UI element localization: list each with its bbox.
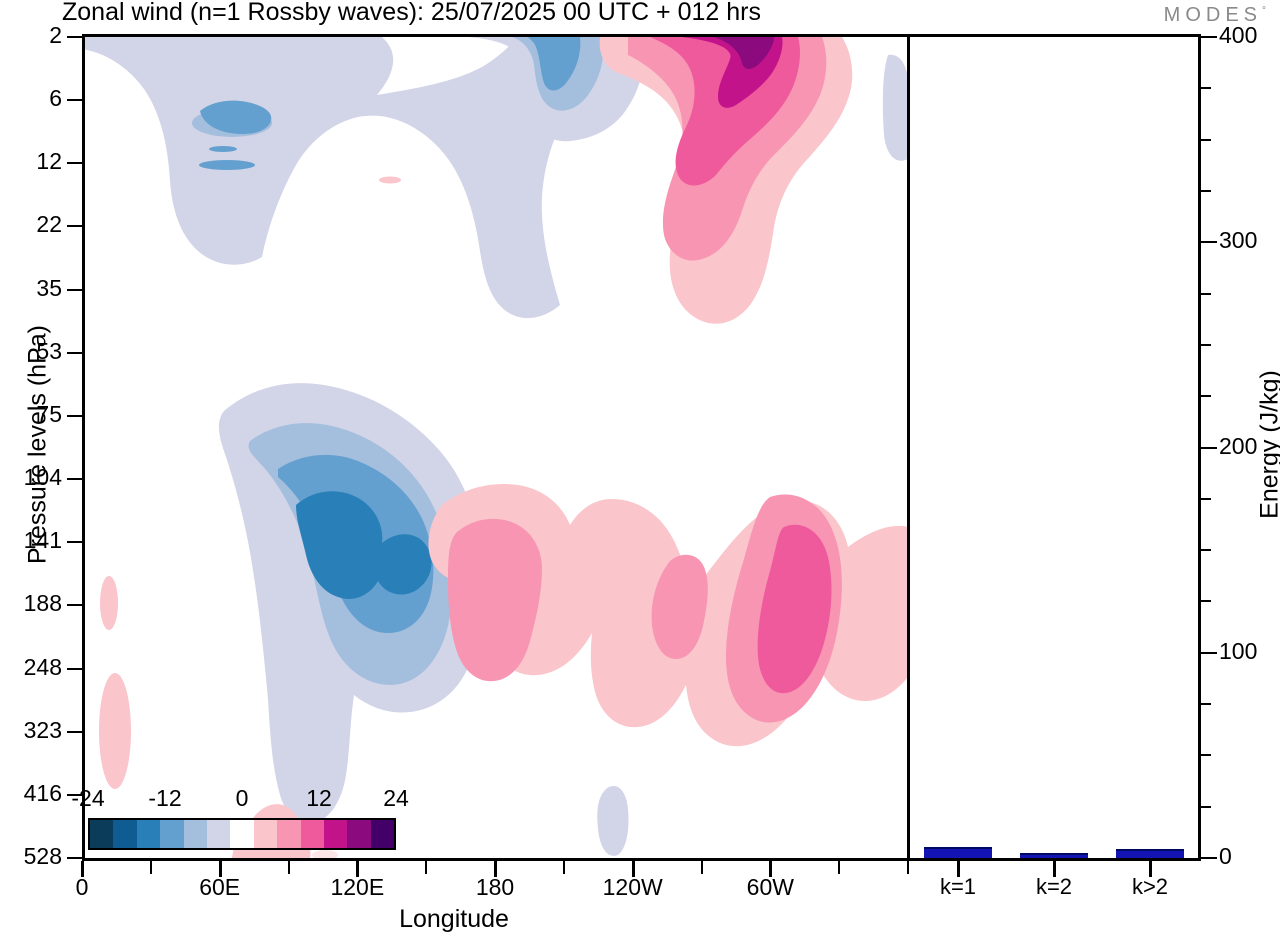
- longitude-tick-minor: [907, 861, 909, 874]
- energy-bar: [924, 847, 992, 858]
- energy-tick-major: [1201, 857, 1217, 859]
- colorbar-swatch: [347, 820, 370, 848]
- energy-tick-minor: [1201, 703, 1211, 705]
- colorbar-tick-label: 12: [306, 785, 332, 812]
- longitude-tick-minor: [288, 861, 290, 874]
- longitude-tick-minor: [701, 861, 703, 874]
- energy-tick-major: [1201, 241, 1217, 243]
- energy-tick-minor: [1201, 395, 1211, 397]
- energy-tick-minor: [1201, 87, 1211, 89]
- longitude-tick-label: 120W: [603, 874, 663, 901]
- pressure-tick-label: 6: [0, 85, 62, 112]
- colorbar: [88, 818, 396, 850]
- colorbar-tick-label: 0: [236, 785, 249, 812]
- energy-bar-label: k=2: [1036, 874, 1072, 900]
- colorbar-swatch: [277, 820, 300, 848]
- pressure-tick: [67, 668, 82, 670]
- contour-field: [82, 37, 908, 858]
- chart-canvas: Zonal wind (n=1 Rossby waves): 25/07/202…: [0, 0, 1280, 930]
- colorbar-swatch: [90, 820, 113, 848]
- pressure-tick-label: 416: [0, 780, 62, 807]
- colorbar-swatch: [371, 820, 394, 848]
- region-negative-bottom-blob: [597, 786, 628, 856]
- energy-tick-minor: [1201, 190, 1211, 192]
- energy-tick-label: 300: [1219, 227, 1257, 254]
- longitude-tick-minor: [150, 861, 152, 874]
- pressure-tick: [67, 478, 82, 480]
- pressure-tick: [67, 225, 82, 227]
- region-blue-blob-d: [199, 160, 255, 170]
- colorbar-swatch: [324, 820, 347, 848]
- energy-tick-minor: [1201, 498, 1211, 500]
- energy-tick-label: 200: [1219, 433, 1257, 460]
- pressure-tick: [67, 289, 82, 291]
- colorbar-swatch: [160, 820, 183, 848]
- longitude-tick-label: 180: [476, 874, 514, 901]
- energy-tick-minor: [1201, 754, 1211, 756]
- longitude-tick-minor: [425, 861, 427, 874]
- longitude-tick-label: 0: [76, 874, 89, 901]
- energy-tick-minor: [1201, 806, 1211, 808]
- contour-plot-area: [82, 37, 908, 858]
- energy-bar-label: k>2: [1132, 874, 1168, 900]
- energy-tick-minor: [1201, 344, 1211, 346]
- energy-tick-minor: [1201, 600, 1211, 602]
- pressure-tick: [67, 352, 82, 354]
- energy-bar-panel: [910, 37, 1198, 858]
- energy-bar-label: k=1: [940, 874, 976, 900]
- colorbar-swatch: [113, 820, 136, 848]
- energy-bar: [1116, 849, 1184, 858]
- page-title: Zonal wind (n=1 Rossby waves): 25/07/202…: [62, 0, 962, 27]
- region-pink-speck: [379, 177, 401, 184]
- longitude-tick-label: 60E: [199, 874, 240, 901]
- pressure-tick: [67, 99, 82, 101]
- plot-frame-left: [82, 34, 85, 861]
- energy-tick-label: 400: [1219, 22, 1257, 49]
- longitude-tick-label: 60W: [747, 874, 794, 901]
- brand-degree-mark: °: [1262, 5, 1266, 16]
- region-negative-sliver-right-top: [883, 55, 908, 161]
- colorbar-tick-label: 24: [383, 785, 409, 812]
- colorbar-swatch: [207, 820, 230, 848]
- longitude-tick-minor: [563, 861, 565, 874]
- pressure-tick: [67, 541, 82, 543]
- energy-bar: [1020, 853, 1088, 858]
- longitude-tick-label: 120E: [330, 874, 384, 901]
- energy-tick-minor: [1201, 293, 1211, 295]
- energy-tick-minor: [1201, 549, 1211, 551]
- region-blue-blob-c: [209, 146, 237, 152]
- colorbar-tick-label: -24: [71, 785, 104, 812]
- colorbar-swatch: [230, 820, 253, 848]
- energy-tick-major: [1201, 36, 1217, 38]
- energy-tick-minor: [1201, 139, 1211, 141]
- energy-bar-tick: [1149, 861, 1152, 877]
- pressure-tick: [67, 415, 82, 417]
- pressure-tick-label: 248: [0, 654, 62, 681]
- region-pink-left-upper: [100, 576, 118, 630]
- longitude-tick-minor: [838, 861, 840, 874]
- plot-frame-bottom: [82, 858, 1201, 861]
- colorbar-tick-label: -12: [148, 785, 181, 812]
- colorbar-swatch: [301, 820, 324, 848]
- pressure-tick: [67, 36, 82, 38]
- pressure-tick-label: 528: [0, 843, 62, 870]
- colorbar-swatch: [137, 820, 160, 848]
- pressure-tick: [67, 604, 82, 606]
- energy-tick-major: [1201, 652, 1217, 654]
- pressure-tick-label: 323: [0, 717, 62, 744]
- energy-tick-label: 100: [1219, 638, 1257, 665]
- energy-tick-label: 0: [1219, 843, 1232, 870]
- energy-bar-tick: [1053, 861, 1056, 877]
- pressure-axis-title: Pressure levels (hPa): [24, 235, 53, 655]
- pressure-tick: [67, 857, 82, 859]
- region-pink-left-lower: [99, 673, 131, 789]
- colorbar-swatch: [254, 820, 277, 848]
- energy-bar-tick: [957, 861, 960, 877]
- pressure-tick-label: 12: [0, 148, 62, 175]
- pressure-tick-label: 2: [0, 22, 62, 49]
- pressure-tick: [67, 731, 82, 733]
- energy-axis-title: Energy (J/kg): [1256, 235, 1280, 655]
- colorbar-swatch: [184, 820, 207, 848]
- pressure-tick: [67, 162, 82, 164]
- energy-tick-major: [1201, 447, 1217, 449]
